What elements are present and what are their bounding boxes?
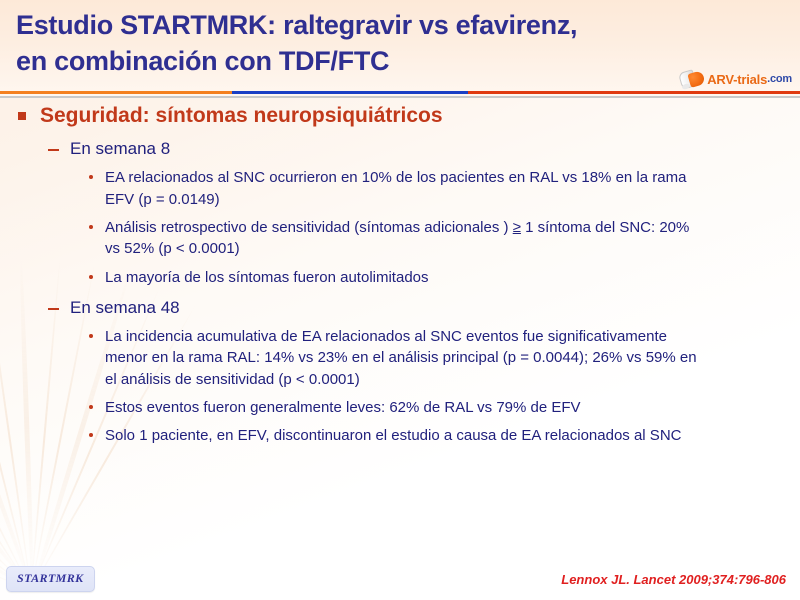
list-item-text: La incidencia acumulativa de EA relacion… xyxy=(105,328,697,388)
subsection-week8-label: En semana 8 xyxy=(70,139,170,158)
status-badge: STARTMRK xyxy=(6,566,95,592)
list-item-text: EA relacionados al SNC ocurrieron en 10%… xyxy=(105,169,686,207)
subsection-week48-label: En semana 48 xyxy=(70,298,180,317)
dot-bullet-icon xyxy=(89,225,93,229)
header-divider-rule xyxy=(0,91,800,94)
dot-bullet-icon xyxy=(89,334,93,338)
list-item: Estos eventos fueron generalmente leves:… xyxy=(86,397,697,418)
slide-content: Seguridad: síntomas neuropsiquiátricos E… xyxy=(0,103,800,446)
slide: Estudio STARTMRK: raltegravir vs efavire… xyxy=(0,0,800,600)
dot-bullet-icon xyxy=(89,175,93,179)
arv-trials-logo: ARV-trials .com xyxy=(679,66,792,92)
list-item: La incidencia acumulativa de EA relacion… xyxy=(86,326,697,390)
pill-capsule-icon xyxy=(679,69,705,89)
list-item-text: Solo 1 paciente, en EFV, discontinuaron … xyxy=(105,427,681,444)
list-item-text: Análisis retrospectivo de sensitividad (… xyxy=(105,219,513,236)
dot-bullet-icon xyxy=(89,275,93,279)
title-line-2: en combinación con TDF/FTC xyxy=(16,44,696,80)
list-item-text: La mayoría de los síntomas fueron autoli… xyxy=(105,269,429,286)
citation-reference: Lennox JL. Lancet 2009;374:796-806 xyxy=(561,572,786,587)
section-heading-label: Seguridad: síntomas neuropsiquiátricos xyxy=(40,104,443,127)
divider-segment-orange xyxy=(0,91,232,94)
dot-bullet-icon xyxy=(89,433,93,437)
square-bullet-icon xyxy=(18,112,26,120)
divider-segment-red xyxy=(468,91,800,94)
divider-segment-blue xyxy=(232,91,468,94)
list-item-text: Estos eventos fueron generalmente leves:… xyxy=(105,399,581,416)
section-heading: Seguridad: síntomas neuropsiquiátricos xyxy=(14,103,800,129)
list-item: Análisis retrospectivo de sensitividad (… xyxy=(86,217,697,260)
header-divider-gray xyxy=(0,96,800,98)
logo-name: ARV-trials xyxy=(707,72,767,87)
title-line-1: Estudio STARTMRK: raltegravir vs efavire… xyxy=(16,10,577,40)
subsection-week8: En semana 8 xyxy=(46,138,800,160)
list-item: EA relacionados al SNC ocurrieron en 10%… xyxy=(86,167,697,210)
list-item: Solo 1 paciente, en EFV, discontinuaron … xyxy=(86,425,697,446)
list-item: La mayoría de los síntomas fueron autoli… xyxy=(86,267,697,288)
dash-bullet-icon xyxy=(48,149,59,151)
logo-suffix: .com xyxy=(767,73,792,85)
dash-bullet-icon xyxy=(48,308,59,310)
page-title: Estudio STARTMRK: raltegravir vs efavire… xyxy=(16,8,696,80)
greater-equal-symbol: ≥ xyxy=(513,219,521,236)
subsection-week48: En semana 48 xyxy=(46,297,800,319)
dot-bullet-icon xyxy=(89,405,93,409)
